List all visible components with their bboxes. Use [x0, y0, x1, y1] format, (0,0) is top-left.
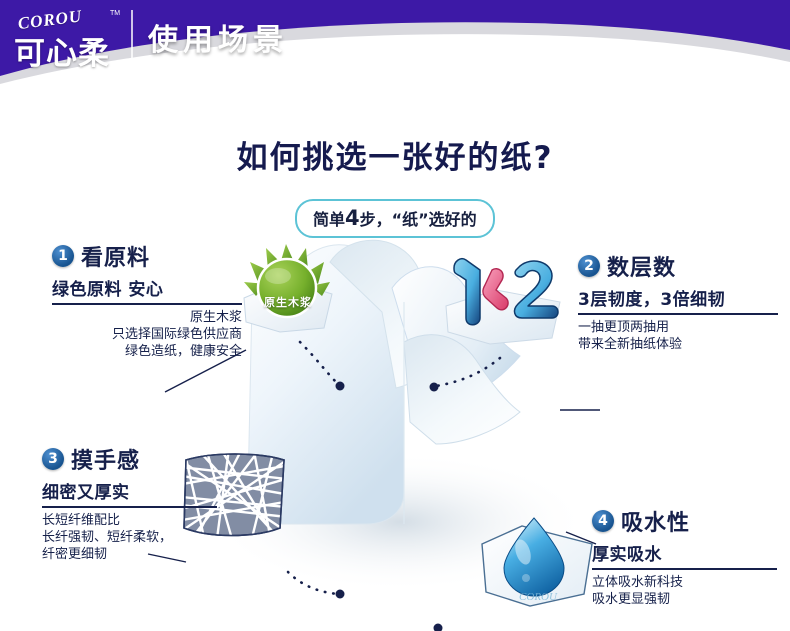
- header-divider: [131, 10, 133, 62]
- section-3-line-3: 纤密更细韧: [42, 546, 217, 563]
- pill-prefix: 简单: [313, 210, 345, 229]
- leaf-badge-label: 原生木浆: [236, 294, 340, 310]
- section-3-line-1: 长短纤维配比: [42, 512, 217, 529]
- section-1-body: 原生木浆 只选择国际绿色供应商 绿色造纸，健康安全: [52, 309, 242, 360]
- header-title: 使用场景: [148, 15, 288, 59]
- water-drop-icon: COROU: [476, 508, 600, 612]
- section-2-divider: [578, 313, 778, 315]
- section-2-line-1: 一抽更顶两抽用: [578, 319, 778, 336]
- section-1-title: 看原料: [81, 240, 150, 272]
- brand-logo: COROU TM 可心柔: [14, 6, 122, 76]
- section-3-title: 摸手感: [71, 443, 140, 475]
- section-2-subtitle: 3层韧度，3倍细韧: [578, 285, 778, 310]
- page-header: COROU TM 可心柔 使用场景: [0, 0, 790, 92]
- section-3-number-badge: 3: [42, 448, 64, 470]
- raw-material-badge: 原生木浆: [236, 236, 340, 336]
- one-over-two-icon: [440, 240, 570, 348]
- section-2-body: 一抽更顶两抽用 带来全新抽纸体验: [578, 319, 778, 353]
- section-1-subtitle: 绿色原料 安心: [52, 275, 242, 300]
- infographic-page: COROU TM 可心柔 使用场景 如何挑选一张好的纸? 简单4步，“纸”选好的: [0, 0, 790, 631]
- section-1-line-3: 绿色造纸，健康安全: [52, 343, 242, 360]
- section-3-subtitle: 细密又厚实: [42, 478, 217, 503]
- section-2: 2 数层数 3层韧度，3倍细韧 一抽更顶两抽用 带来全新抽纸体验: [578, 250, 778, 353]
- section-4-divider: [592, 568, 777, 570]
- section-3: 3 摸手感 细密又厚实 长短纤维配比 长纤强韧、短纤柔软， 纤密更细韧: [42, 443, 217, 563]
- brand-chinese-text: 可心柔: [14, 28, 124, 72]
- section-1-divider: [52, 303, 242, 305]
- section-4-line-1: 立体吸水新科技: [592, 574, 777, 591]
- section-1-line-1: 原生木浆: [52, 309, 242, 326]
- section-2-line-2: 带来全新抽纸体验: [578, 336, 778, 353]
- section-4-heading: 4 吸水性: [592, 505, 777, 537]
- pill-number: 4: [345, 206, 360, 230]
- section-3-line-2: 长纤强韧、短纤柔软，: [42, 529, 217, 546]
- subtitle-pill: 简单4步，“纸”选好的: [295, 199, 495, 238]
- section-3-heading: 3 摸手感: [42, 443, 217, 475]
- svg-text:COROU: COROU: [519, 591, 558, 603]
- section-1-heading: 1 看原料: [52, 240, 242, 272]
- section-4-number-badge: 4: [592, 510, 614, 532]
- section-2-title: 数层数: [607, 250, 676, 282]
- section-2-number-badge: 2: [578, 255, 600, 277]
- section-2-heading: 2 数层数: [578, 250, 778, 282]
- leaf-badge-icon: [236, 236, 340, 336]
- water-absorb-graphic: COROU: [476, 508, 600, 612]
- section-1-number-badge: 1: [52, 245, 74, 267]
- section-4-title: 吸水性: [621, 505, 690, 537]
- section-4-subtitle: 厚实吸水: [592, 540, 777, 565]
- layers-numbers-graphic: [440, 240, 570, 348]
- section-4-body: 立体吸水新科技 吸水更显强韧: [592, 574, 777, 608]
- trademark-icon: TM: [110, 10, 120, 17]
- section-4: 4 吸水性 厚实吸水 立体吸水新科技 吸水更显强韧: [592, 505, 777, 608]
- section-4-line-2: 吸水更显强韧: [592, 591, 777, 608]
- section-3-body: 长短纤维配比 长纤强韧、短纤柔软， 纤密更细韧: [42, 512, 217, 563]
- section-1-line-2: 只选择国际绿色供应商: [52, 326, 242, 343]
- section-3-divider: [42, 506, 217, 508]
- pill-suffix: 步，“纸”选好的: [360, 210, 477, 229]
- section-1: 1 看原料 绿色原料 安心 原生木浆 只选择国际绿色供应商 绿色造纸，健康安全: [52, 240, 242, 360]
